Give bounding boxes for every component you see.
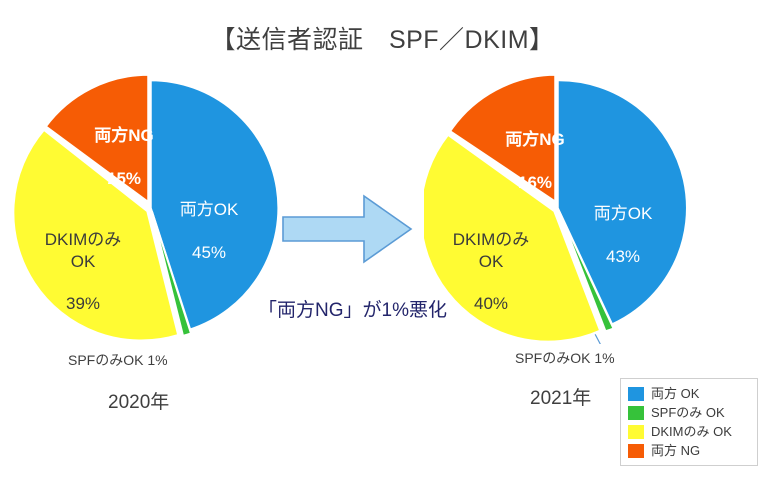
pie-slice-both-ok [151,80,279,330]
pie-2021-caption: 2021年 [530,383,591,410]
legend-item-spf-only-ok[interactable]: SPFのみ OK [628,403,751,422]
chart-legend: 両方 OK SPFのみ OK DKIMのみ OK 両方 NG [620,378,758,466]
legend-swatch-both-ng [628,444,644,458]
legend-label-both-ng: 両方 NG [651,444,700,457]
slide-canvas: 【送信者認証 SPF／DKIM】 両方OK 45% 両方NG 15% DKIMの… [0,0,765,489]
legend-item-both-ok[interactable]: 両方 OK [628,384,751,403]
pie-2020-label-spf-only-ok: SPFのみOK 1% [68,352,218,370]
pie-2021-leader-line [595,334,606,344]
legend-item-both-ng[interactable]: 両方 NG [628,441,751,460]
legend-swatch-spf-only-ok [628,406,644,420]
pie-2021-label-spf-only-ok: SPFのみOK 1% [515,350,665,368]
legend-label-both-ok: 両方 OK [651,387,699,400]
right-arrow-icon [281,193,414,265]
pie-2021-svg [424,72,700,344]
pie-2020-caption: 2020年 [108,387,169,414]
center-note-text: 「両方NG」が1%悪化 [240,295,465,322]
transition-arrow [281,193,414,265]
legend-label-dkim-only-ok: DKIMのみ OK [651,425,732,438]
legend-item-dkim-only-ok[interactable]: DKIMのみ OK [628,422,751,441]
pie-chart-2021 [424,72,700,344]
legend-label-spf-only-ok: SPFのみ OK [651,406,725,419]
legend-swatch-both-ok [628,387,644,401]
legend-swatch-dkim-only-ok [628,425,644,439]
page-title: 【送信者認証 SPF／DKIM】 [0,20,765,56]
